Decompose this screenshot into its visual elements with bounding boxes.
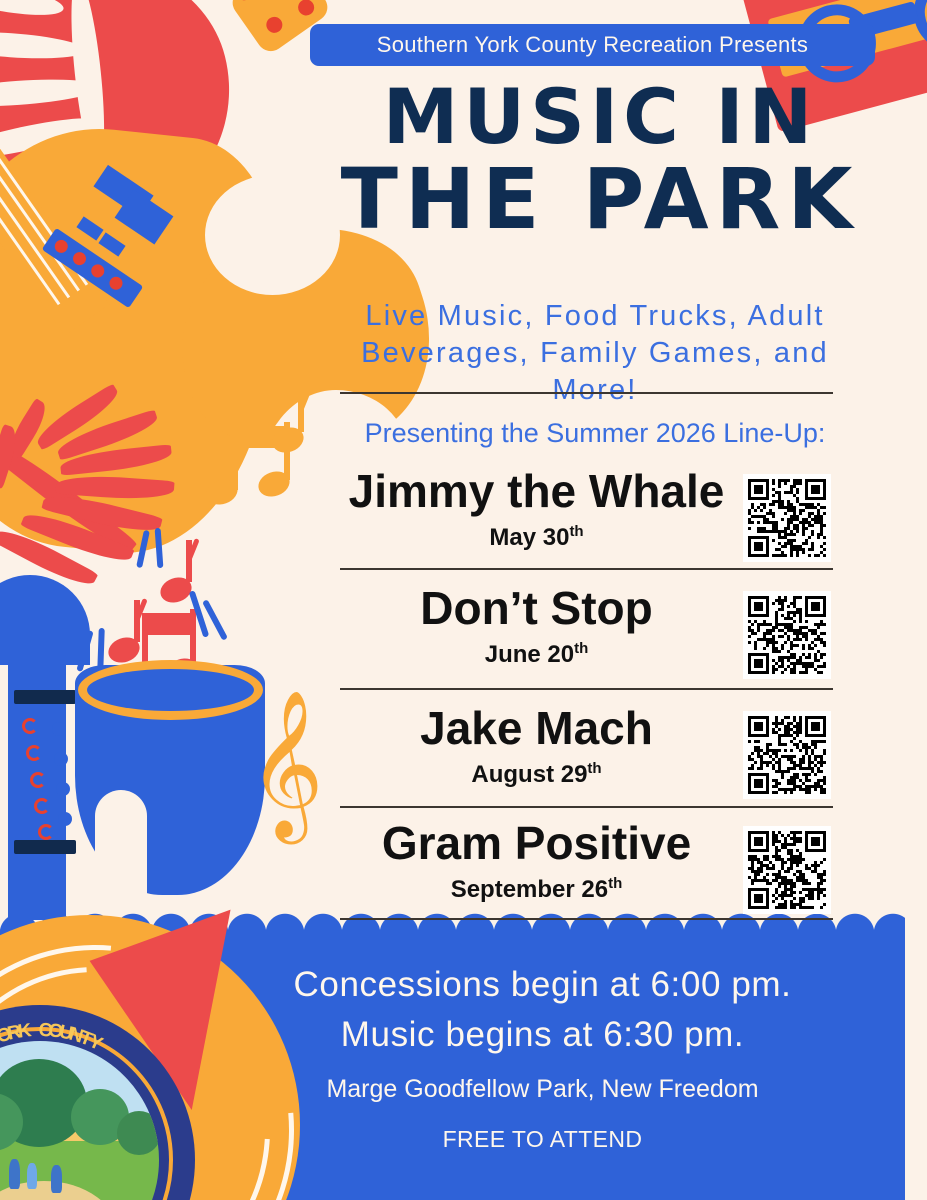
act-date-suffix: th bbox=[608, 875, 622, 892]
divider-act-1 bbox=[340, 568, 833, 570]
treble-clef-icon: 𝄞 bbox=[248, 700, 324, 828]
monstera-leaf-icon bbox=[0, 0, 258, 262]
lineup-item: Jimmy the Whale May 30th bbox=[340, 468, 833, 552]
act-date-text: September 26 bbox=[451, 876, 608, 903]
free-to-attend-note: FREE TO ATTEND bbox=[180, 1126, 905, 1153]
divider-act-4 bbox=[340, 918, 833, 920]
page-title: MUSIC IN THE PARK bbox=[300, 80, 900, 241]
fern-frond-icon bbox=[0, 395, 220, 600]
guitar-bridge bbox=[42, 228, 144, 308]
title-line-1: MUSIC IN bbox=[383, 72, 817, 161]
lineup-item: Don’t Stop June 20th bbox=[340, 585, 833, 669]
guitar-fret-marker-1 bbox=[76, 216, 103, 240]
title-line-2: THE PARK bbox=[300, 158, 900, 240]
lineup-label: Presenting the Summer 2026 Line-Up: bbox=[335, 418, 855, 449]
guitar-strings bbox=[0, 10, 111, 336]
lineup-item: Gram Positive September 26th bbox=[340, 820, 833, 904]
act-date-text: August 29 bbox=[471, 761, 587, 788]
divider-act-2 bbox=[340, 688, 833, 690]
sound-ray bbox=[155, 528, 164, 568]
sound-ray bbox=[189, 590, 210, 638]
guitar-pickup-upper bbox=[93, 165, 153, 217]
act-date-text: June 20 bbox=[485, 641, 574, 668]
saxophone-bell bbox=[75, 665, 265, 895]
sound-ray bbox=[76, 630, 93, 672]
music-time: Music begins at 6:30 pm. bbox=[180, 1010, 905, 1060]
scalloped-edge bbox=[0, 913, 905, 939]
guitar-pickup-lower bbox=[115, 189, 174, 244]
guitar-neck bbox=[0, 10, 109, 336]
sound-ray bbox=[202, 599, 228, 641]
lineup-item: Jake Mach August 29th bbox=[340, 705, 833, 789]
sound-ray bbox=[136, 530, 150, 568]
divider-act-3 bbox=[340, 806, 833, 808]
footer-details: Concessions begin at 6:00 pm. Music begi… bbox=[180, 960, 905, 1153]
presenter-text: Southern York County Recreation Presents bbox=[377, 32, 808, 58]
guitar-knob-icon bbox=[0, 195, 36, 239]
qr-code[interactable] bbox=[743, 711, 831, 799]
venue-location: Marge Goodfellow Park, New Freedom bbox=[180, 1075, 905, 1104]
poster-canvas: 𝄞 bbox=[0, 0, 927, 1200]
saxophone-bell-rim bbox=[78, 660, 263, 720]
act-date-suffix: th bbox=[574, 640, 588, 657]
electric-guitar-icon bbox=[0, 114, 291, 566]
qr-code[interactable] bbox=[743, 474, 831, 562]
qr-code[interactable] bbox=[743, 591, 831, 679]
saxophone-curve bbox=[0, 575, 90, 665]
divider-tagline bbox=[340, 392, 833, 394]
qr-code[interactable] bbox=[743, 826, 831, 914]
guitar-fret-marker-2 bbox=[98, 232, 125, 256]
act-date-suffix: th bbox=[569, 523, 583, 540]
presenter-banner: Southern York County Recreation Presents bbox=[310, 24, 875, 66]
concessions-time: Concessions begin at 6:00 pm. bbox=[180, 960, 905, 1010]
saxophone-icon bbox=[8, 590, 66, 920]
act-date-text: May 30 bbox=[489, 524, 569, 551]
sound-ray bbox=[97, 628, 105, 672]
act-date-suffix: th bbox=[587, 760, 601, 777]
